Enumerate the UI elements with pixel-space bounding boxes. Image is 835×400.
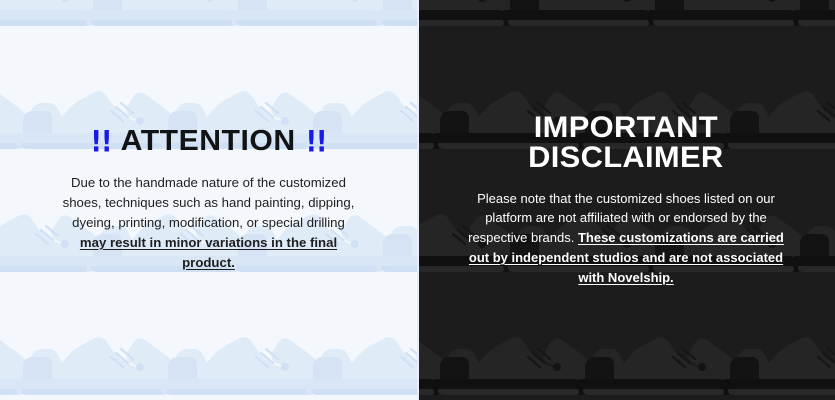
attention-content: !! ATTENTION !! Due to the handmade natu… — [0, 0, 417, 400]
disclaimer-panel: IMPORTANT DISCLAIMER Please note that th… — [417, 0, 835, 400]
attention-panel: !! ATTENTION !! Due to the handmade natu… — [0, 0, 417, 400]
disclaimer-heading-line2: DISCLAIMER — [528, 143, 723, 173]
double-exclamation-right-icon: !! — [306, 127, 327, 157]
attention-body-emphasis: may result in minor variations in the fi… — [80, 235, 337, 270]
disclaimer-banner: !! ATTENTION !! Due to the handmade natu… — [0, 0, 835, 400]
disclaimer-content: IMPORTANT DISCLAIMER Please note that th… — [417, 0, 835, 400]
disclaimer-heading-line1: IMPORTANT — [528, 113, 723, 143]
attention-body: Due to the handmade nature of the custom… — [59, 173, 359, 273]
disclaimer-body: Please note that the customized shoes li… — [467, 189, 785, 288]
attention-heading-row: !! ATTENTION !! — [91, 127, 327, 156]
attention-heading: ATTENTION — [121, 127, 296, 156]
disclaimer-heading: IMPORTANT DISCLAIMER — [528, 113, 723, 173]
double-exclamation-left-icon: !! — [91, 127, 112, 157]
attention-body-plain: Due to the handmade nature of the custom… — [63, 175, 355, 230]
